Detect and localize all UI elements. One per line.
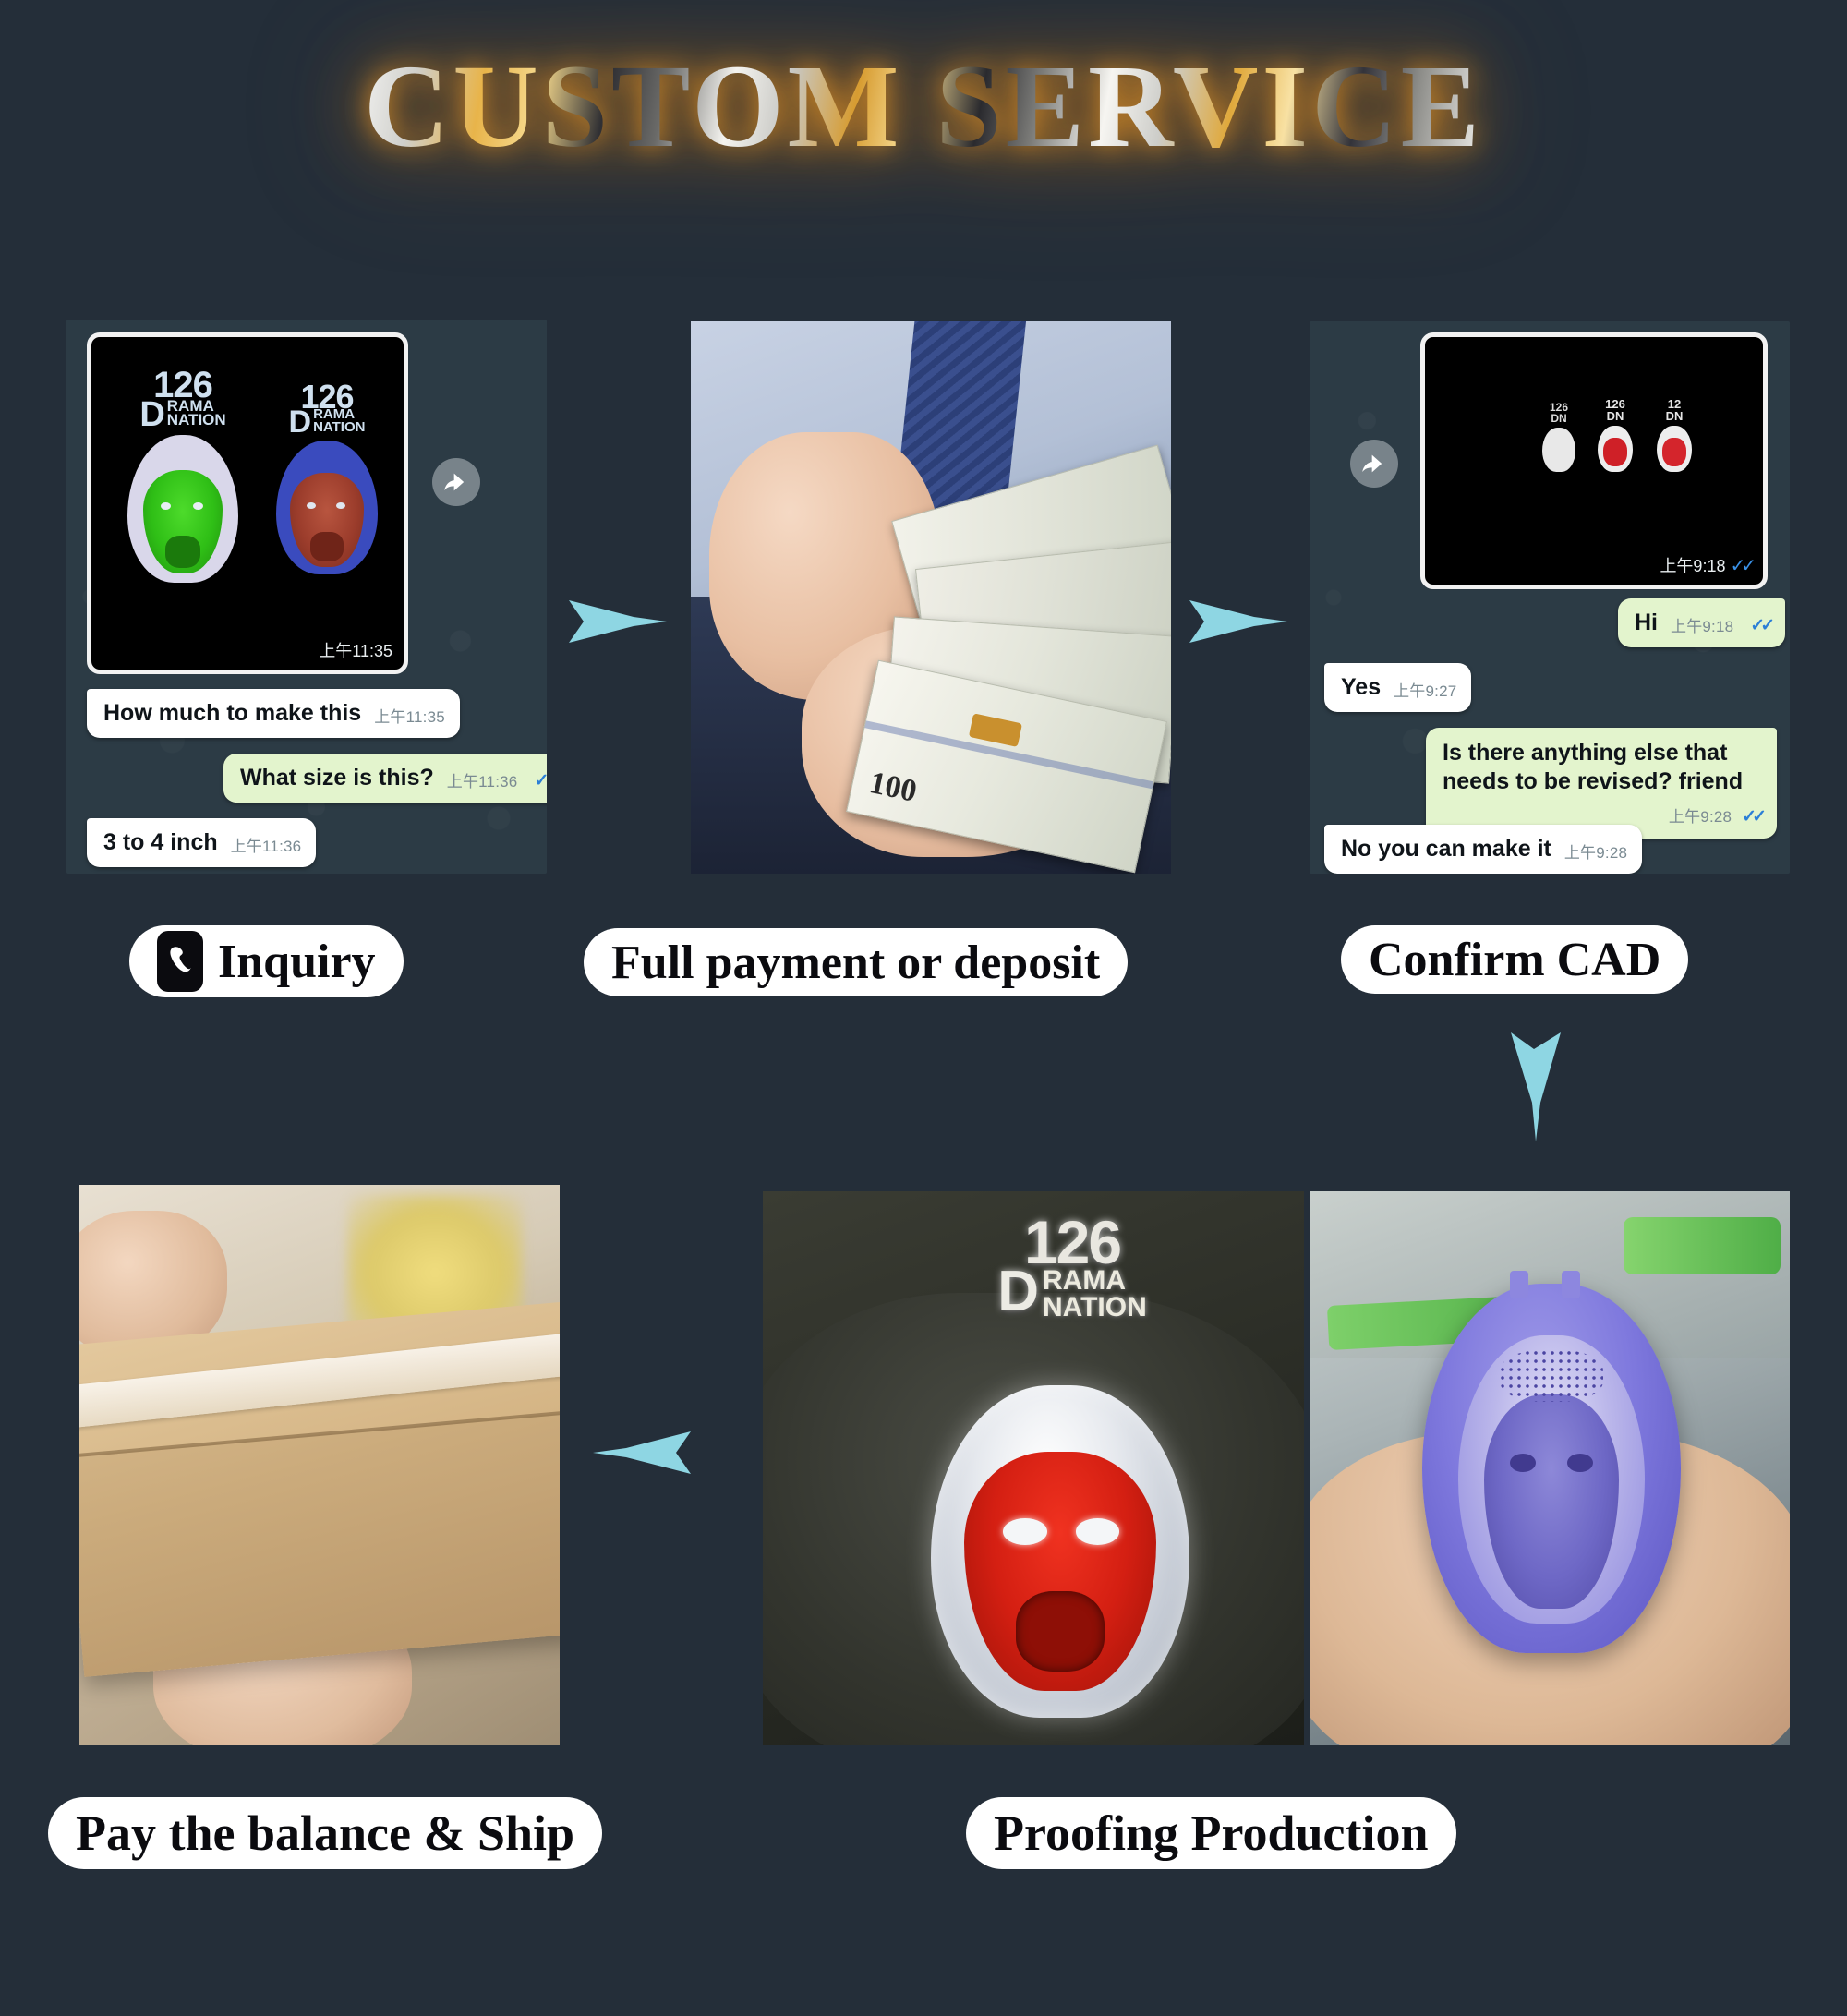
mold-clip-right	[1562, 1271, 1580, 1298]
chat-message-time: 上午11:35	[374, 708, 445, 728]
page-title-wrap: CUSTOM SERVICE	[0, 44, 1847, 168]
step-cad-chat-panel: 126DN 126DN 12DN 上午9:18 ✓✓	[1310, 321, 1790, 874]
pendant-design-green: 126 D RAMA NATION	[114, 368, 252, 583]
banknote-seal	[969, 713, 1022, 747]
banknote-denomination: 100	[866, 766, 920, 810]
forward-icon[interactable]	[432, 458, 480, 506]
arrow-left-icon	[591, 1422, 691, 1488]
mold-eye-right	[1567, 1454, 1593, 1472]
chat-message-time: 上午11:36	[447, 773, 518, 792]
step-proofing-pendant-photo: 126 D RAMA NATION	[763, 1191, 1304, 1745]
chat-message-meta: 上午9:28 ✓✓	[1669, 801, 1762, 829]
step-label-proofing-production[interactable]: Proofing Production	[966, 1797, 1456, 1869]
cad-render-3: 12DN	[1650, 398, 1698, 472]
step-label-text: Confirm CAD	[1369, 933, 1660, 987]
chat-message-text: How much to make this	[103, 699, 361, 728]
step-label-inquiry[interactable]: Inquiry	[129, 925, 404, 997]
step-label-text: Proofing Production	[994, 1805, 1429, 1862]
step-inquiry-chat-panel: 126 D RAMA NATION 126	[66, 320, 547, 874]
cad-label-3: 12DN	[1650, 398, 1698, 422]
green-tool-2	[1624, 1217, 1781, 1274]
step-ship-photo	[79, 1185, 560, 1745]
pendant-photo-number: 126	[957, 1215, 1188, 1270]
pendant-iced-head	[931, 1385, 1189, 1718]
chat-message-out-revise[interactable]: Is there anything else that needs to be …	[1426, 728, 1777, 839]
chat-message-time: 上午9:18	[1671, 618, 1733, 637]
step-label-pay-balance-ship[interactable]: Pay the balance & Ship	[48, 1797, 602, 1869]
step-label-payment[interactable]: Full payment or deposit	[584, 928, 1128, 996]
pendant-design-red: 126 D RAMA NATION	[258, 381, 396, 574]
pendant-photo-d: D	[997, 1268, 1039, 1317]
media-timestamp-text: 上午11:35	[319, 638, 392, 662]
chat-message-text: 3 to 4 inch	[103, 828, 218, 857]
pendant-brand-plate: 126 D RAMA NATION	[957, 1215, 1188, 1321]
media-timestamp: 上午11:35	[319, 638, 392, 662]
cad-media-timestamp: 上午9:18 ✓✓	[1660, 553, 1752, 577]
cad-head-2	[1598, 426, 1633, 472]
pendant-photo-rama: RAMA	[1043, 1268, 1147, 1295]
chat-message-text: What size is this?	[240, 764, 434, 792]
pendant-photo-nation: NATION	[1043, 1295, 1147, 1322]
chat-message-time: 上午11:36	[231, 838, 302, 857]
chat-message-in-1[interactable]: How much to make this 上午11:35	[87, 689, 460, 738]
chat-message-time: 上午9:28	[1564, 844, 1627, 863]
cad-label-1: 126DN	[1536, 402, 1582, 424]
step-label-text: Inquiry	[218, 935, 376, 989]
cad-head-1	[1542, 428, 1575, 472]
pendant-head-green	[127, 435, 238, 583]
read-receipt-icon: ✓✓	[1750, 615, 1770, 636]
step-payment-photo: 100	[691, 321, 1171, 874]
step-label-text: Pay the balance & Ship	[76, 1805, 574, 1862]
chat-message-text: Yes	[1341, 673, 1381, 702]
chat-message-time: 上午9:27	[1394, 682, 1456, 702]
chat-message-text: Is there anything else that needs to be …	[1443, 740, 1743, 794]
chat-message-out-1[interactable]: What size is this? 上午11:36 ✓✓	[223, 754, 547, 803]
step-proofing-mold-photo	[1310, 1191, 1790, 1745]
pendant-brand-nation: NATION	[167, 413, 226, 428]
mold-vent-dots	[1500, 1350, 1603, 1402]
pendant-eye-left	[1003, 1518, 1047, 1545]
pendant-mouth	[1016, 1591, 1104, 1671]
forward-icon[interactable]	[1350, 440, 1398, 488]
read-receipt-icon: ✓✓	[534, 770, 547, 791]
silicone-mold	[1422, 1284, 1681, 1653]
infographic-root: CUSTOM SERVICE 126 D RAMA NATION	[0, 0, 1847, 2016]
step-label-text: Full payment or deposit	[611, 936, 1100, 990]
pendant-head-red	[276, 441, 378, 574]
cad-media-bubble[interactable]: 126DN 126DN 12DN 上午9:18 ✓✓	[1420, 332, 1768, 589]
chat-message-time: 上午9:28	[1669, 808, 1732, 826]
pendant-brand-d-2: D	[289, 408, 312, 437]
chat-message-in-yes[interactable]: Yes 上午9:27	[1324, 663, 1471, 712]
arrow-right-icon-1	[569, 591, 667, 657]
pendant-brand-d: D	[139, 399, 164, 431]
chat-message-in-2[interactable]: 3 to 4 inch 上午11:36	[87, 818, 316, 867]
chat-message-in-ok[interactable]: No you can make it 上午9:28	[1324, 825, 1642, 874]
pendant-eye-right	[1076, 1518, 1120, 1545]
chat-message-text: Hi	[1635, 609, 1658, 637]
chat-message-text: No you can make it	[1341, 835, 1551, 863]
cad-render-1: 126DN	[1536, 402, 1582, 472]
read-receipt-icon: ✓✓	[1742, 807, 1762, 827]
page-title: CUSTOM SERVICE	[364, 44, 1483, 168]
pendant-brand-nation-2: NATION	[313, 421, 365, 434]
cad-render-2: 126DN	[1591, 398, 1639, 472]
arrow-down-icon	[1503, 1032, 1564, 1146]
phone-icon	[157, 931, 203, 992]
step-label-confirm-cad[interactable]: Confirm CAD	[1341, 925, 1688, 994]
cad-label-2: 126DN	[1591, 398, 1639, 422]
read-receipt-icon: ✓✓	[1730, 554, 1752, 577]
chat-media-bubble[interactable]: 126 D RAMA NATION 126	[87, 332, 408, 674]
chat-message-out-hi[interactable]: Hi 上午9:18 ✓✓	[1618, 598, 1785, 647]
mold-eye-left	[1510, 1454, 1536, 1472]
cad-media-timestamp-text: 上午9:18	[1660, 553, 1725, 577]
mold-clip-left	[1510, 1271, 1528, 1298]
cad-head-3	[1657, 426, 1692, 472]
arrow-right-icon-2	[1189, 591, 1287, 657]
mold-face-impression	[1484, 1394, 1619, 1609]
